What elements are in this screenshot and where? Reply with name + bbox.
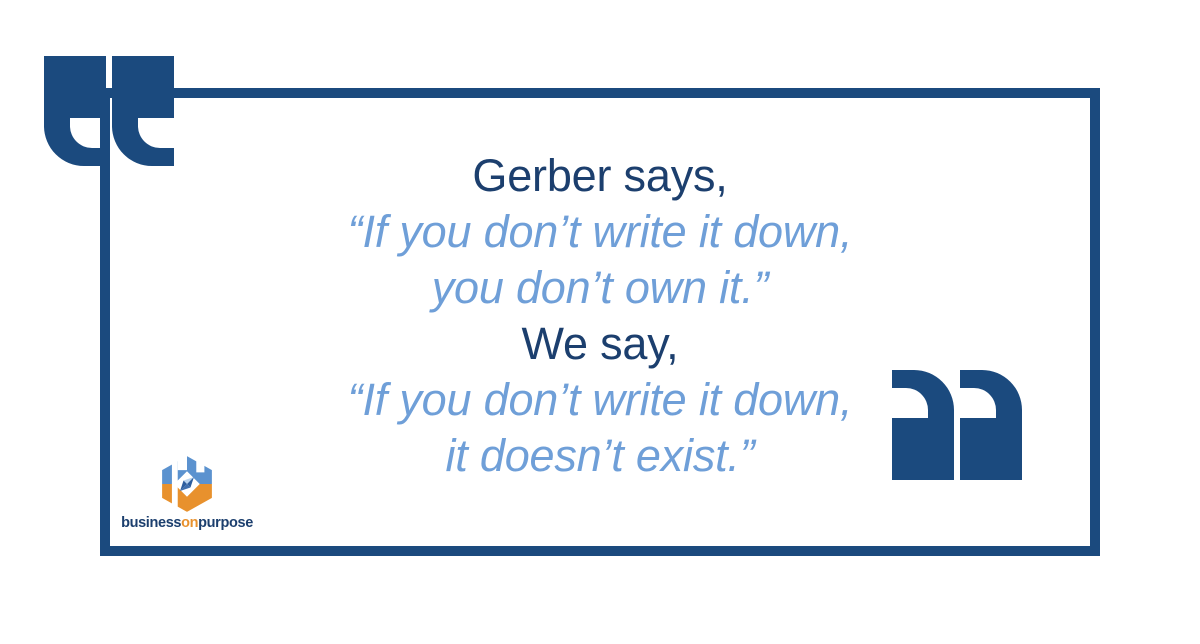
quote-text-block: Gerber says, “If you don’t write it down… xyxy=(150,148,1050,484)
wordmark-business: business xyxy=(121,515,181,531)
quote-line-4: We say, xyxy=(150,316,1050,372)
quote-line-2: “If you don’t write it down, xyxy=(150,204,1050,260)
quote-line-3: you don’t own it.” xyxy=(150,260,1050,316)
quote-line-6: it doesn’t exist.” xyxy=(150,428,1050,484)
hexagon-compass-logo-icon xyxy=(158,455,216,513)
wordmark-on: on xyxy=(181,515,198,531)
quote-line-5: “If you don’t write it down, xyxy=(150,372,1050,428)
quotation-mark-open-icon xyxy=(44,56,106,166)
brand-wordmark: businessonpurpose xyxy=(112,516,262,531)
brand-logo: businessonpurpose xyxy=(112,455,262,531)
wordmark-purpose: purpose xyxy=(198,515,253,531)
quote-graphic-canvas: Gerber says, “If you don’t write it down… xyxy=(0,0,1200,644)
quote-line-1: Gerber says, xyxy=(150,148,1050,204)
